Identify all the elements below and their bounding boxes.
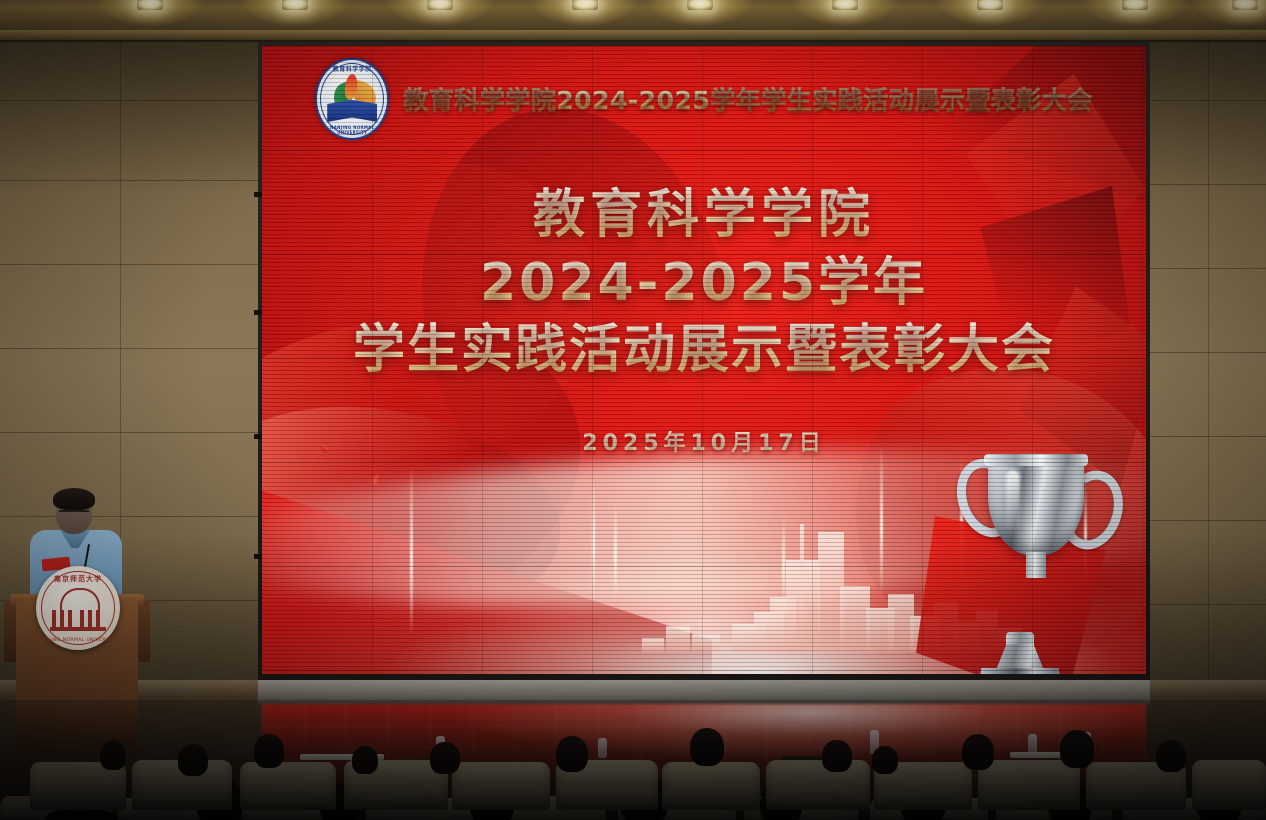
- audience-seat: [240, 762, 336, 810]
- light-beam: [614, 501, 617, 601]
- water-bottle: [598, 738, 607, 758]
- audience-seat: [1192, 760, 1266, 810]
- screen-header: 教育科学学院 NANJING NORMAL UNIVERSITY 教育科学学院2…: [262, 62, 1146, 136]
- audience-seat: [452, 762, 550, 810]
- petal: [331, 564, 345, 577]
- audience-head: [178, 744, 208, 776]
- spotlight-icon: [572, 0, 598, 10]
- trophy-small-base: [974, 668, 1066, 674]
- emblem-text-top: 教育科学学院: [315, 64, 389, 73]
- trophy-small-top: [1006, 632, 1034, 646]
- audience-head: [962, 734, 994, 770]
- audience-area: [0, 700, 1266, 820]
- glasses-icon: [59, 510, 89, 519]
- trophy-small-neck: [996, 644, 1044, 670]
- spotlight-icon: [427, 0, 453, 10]
- trophy-stem: [1026, 552, 1046, 578]
- title-line-2: 2024-2025学年: [262, 250, 1146, 318]
- spotlight-icon: [687, 0, 713, 10]
- trophy-highlight: [1006, 470, 1020, 530]
- petal: [283, 605, 298, 616]
- title-line-1: 教育科学学院: [262, 182, 1146, 250]
- spotlight-icon: [832, 0, 858, 10]
- audience-head: [254, 734, 284, 768]
- audience-head: [1060, 730, 1094, 768]
- audience-seat: [978, 760, 1080, 810]
- petal: [411, 619, 426, 631]
- audience-head: [352, 746, 378, 774]
- light-beam: [592, 476, 595, 606]
- wall-panel-right: [1146, 42, 1266, 742]
- screen-header-title: 教育科学学院2024-2025学年学生实践活动展示暨表彰大会: [403, 81, 1093, 117]
- spotlight-icon: [1122, 0, 1148, 10]
- audience-seat: [662, 762, 760, 810]
- petal: [371, 473, 383, 485]
- audience-head: [556, 736, 588, 772]
- light-beam: [782, 516, 785, 606]
- college-emblem-icon: 教育科学学院 NANJING NORMAL UNIVERSITY: [315, 58, 389, 140]
- audience-head: [430, 742, 460, 774]
- audience-seat: [766, 760, 870, 810]
- audience-head: [872, 746, 898, 774]
- audience-head: [690, 728, 724, 766]
- spotlight-icon: [977, 0, 1003, 10]
- event-date: 2025年10月17日: [262, 425, 1146, 457]
- podium-side-right: [136, 600, 150, 662]
- red-carpet-graphic: [262, 484, 712, 674]
- university-seal-icon: 南京师范大学 NANJING NORMAL UNIVERSITY: [36, 566, 120, 650]
- emblem-text-bottom: NANJING NORMAL UNIVERSITY: [315, 125, 389, 135]
- trophy-large-graphic: [954, 436, 1124, 616]
- screen-title-block: 教育科学学院 2024-2025学年 学生实践活动展示暨表彰大会 2025年10…: [262, 182, 1146, 457]
- conference-hall-photo: 教育科学学院 NANJING NORMAL UNIVERSITY 教育科学学院2…: [0, 0, 1266, 820]
- title-line-3: 学生实践活动展示暨表彰大会: [262, 317, 1146, 385]
- spotlight-icon: [137, 0, 163, 10]
- speaker-hair: [53, 488, 95, 510]
- light-beam: [880, 446, 883, 596]
- spotlight-icon: [282, 0, 308, 10]
- led-display-screen: 教育科学学院 NANJING NORMAL UNIVERSITY 教育科学学院2…: [262, 46, 1146, 674]
- petal: [299, 514, 317, 529]
- audience-head: [822, 740, 852, 772]
- seal-text-top: 南京师范大学: [36, 574, 120, 584]
- seal-text-bottom: NANJING NORMAL UNIVERSITY: [36, 638, 120, 643]
- audience-head: [1156, 740, 1186, 772]
- trophy-small-graphic: [960, 626, 1080, 674]
- spotlight-icon: [1232, 0, 1258, 10]
- audience-head: [100, 740, 126, 770]
- light-beam: [410, 466, 413, 636]
